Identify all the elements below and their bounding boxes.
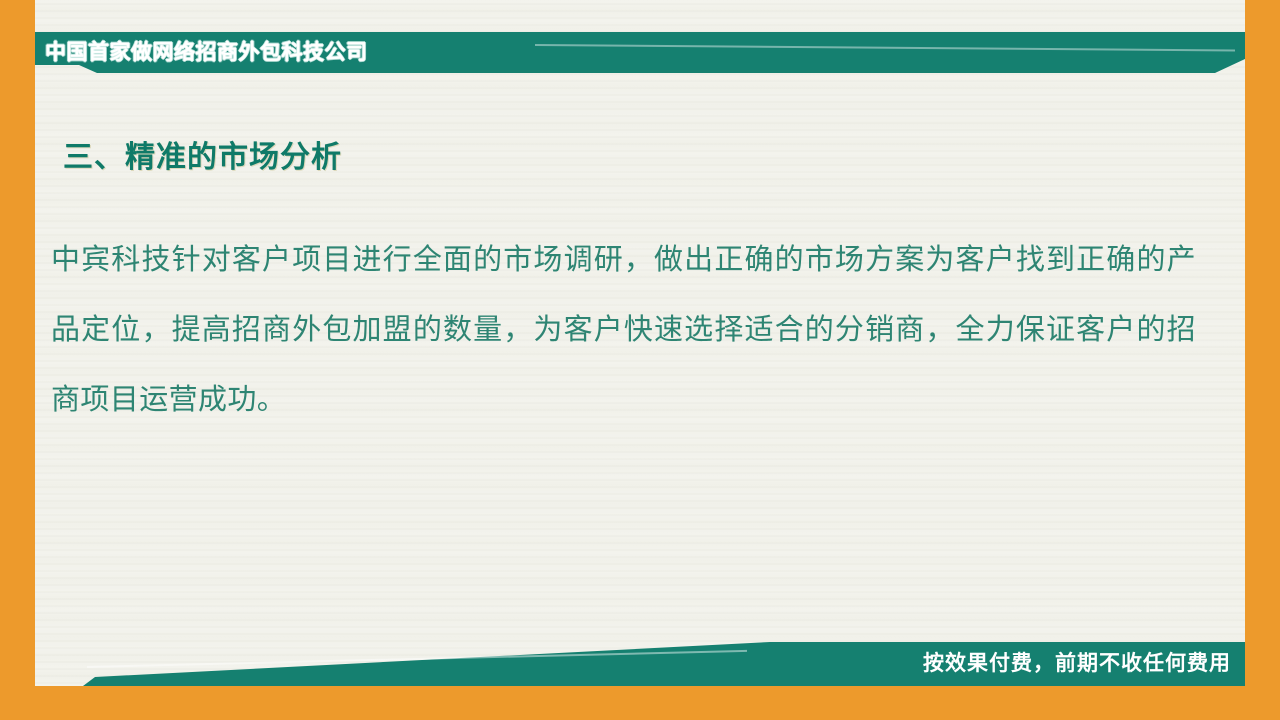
footer-banner: 按效果付费，前期不收任何费用 [35, 636, 1245, 686]
body-paragraph: 中宾科技针对客户项目进行全面的市场调研，做出正确的市场方案为客户找到正确的产品定… [51, 225, 1196, 435]
company-slogan-title: 中国首家做网络招商外包科技公司 [45, 36, 368, 69]
presentation-slide: 中国首家做网络招商外包科技公司 三、精准的市场分析 中宾科技针对客户项目进行全面… [0, 0, 1280, 720]
header-banner: 中国首家做网络招商外包科技公司 [35, 32, 1245, 73]
slide-content-panel: 中国首家做网络招商外包科技公司 三、精准的市场分析 中宾科技针对客户项目进行全面… [35, 0, 1245, 686]
section-heading: 三、精准的市场分析 [63, 132, 342, 176]
footer-tagline: 按效果付费，前期不收任何费用 [923, 647, 1231, 677]
